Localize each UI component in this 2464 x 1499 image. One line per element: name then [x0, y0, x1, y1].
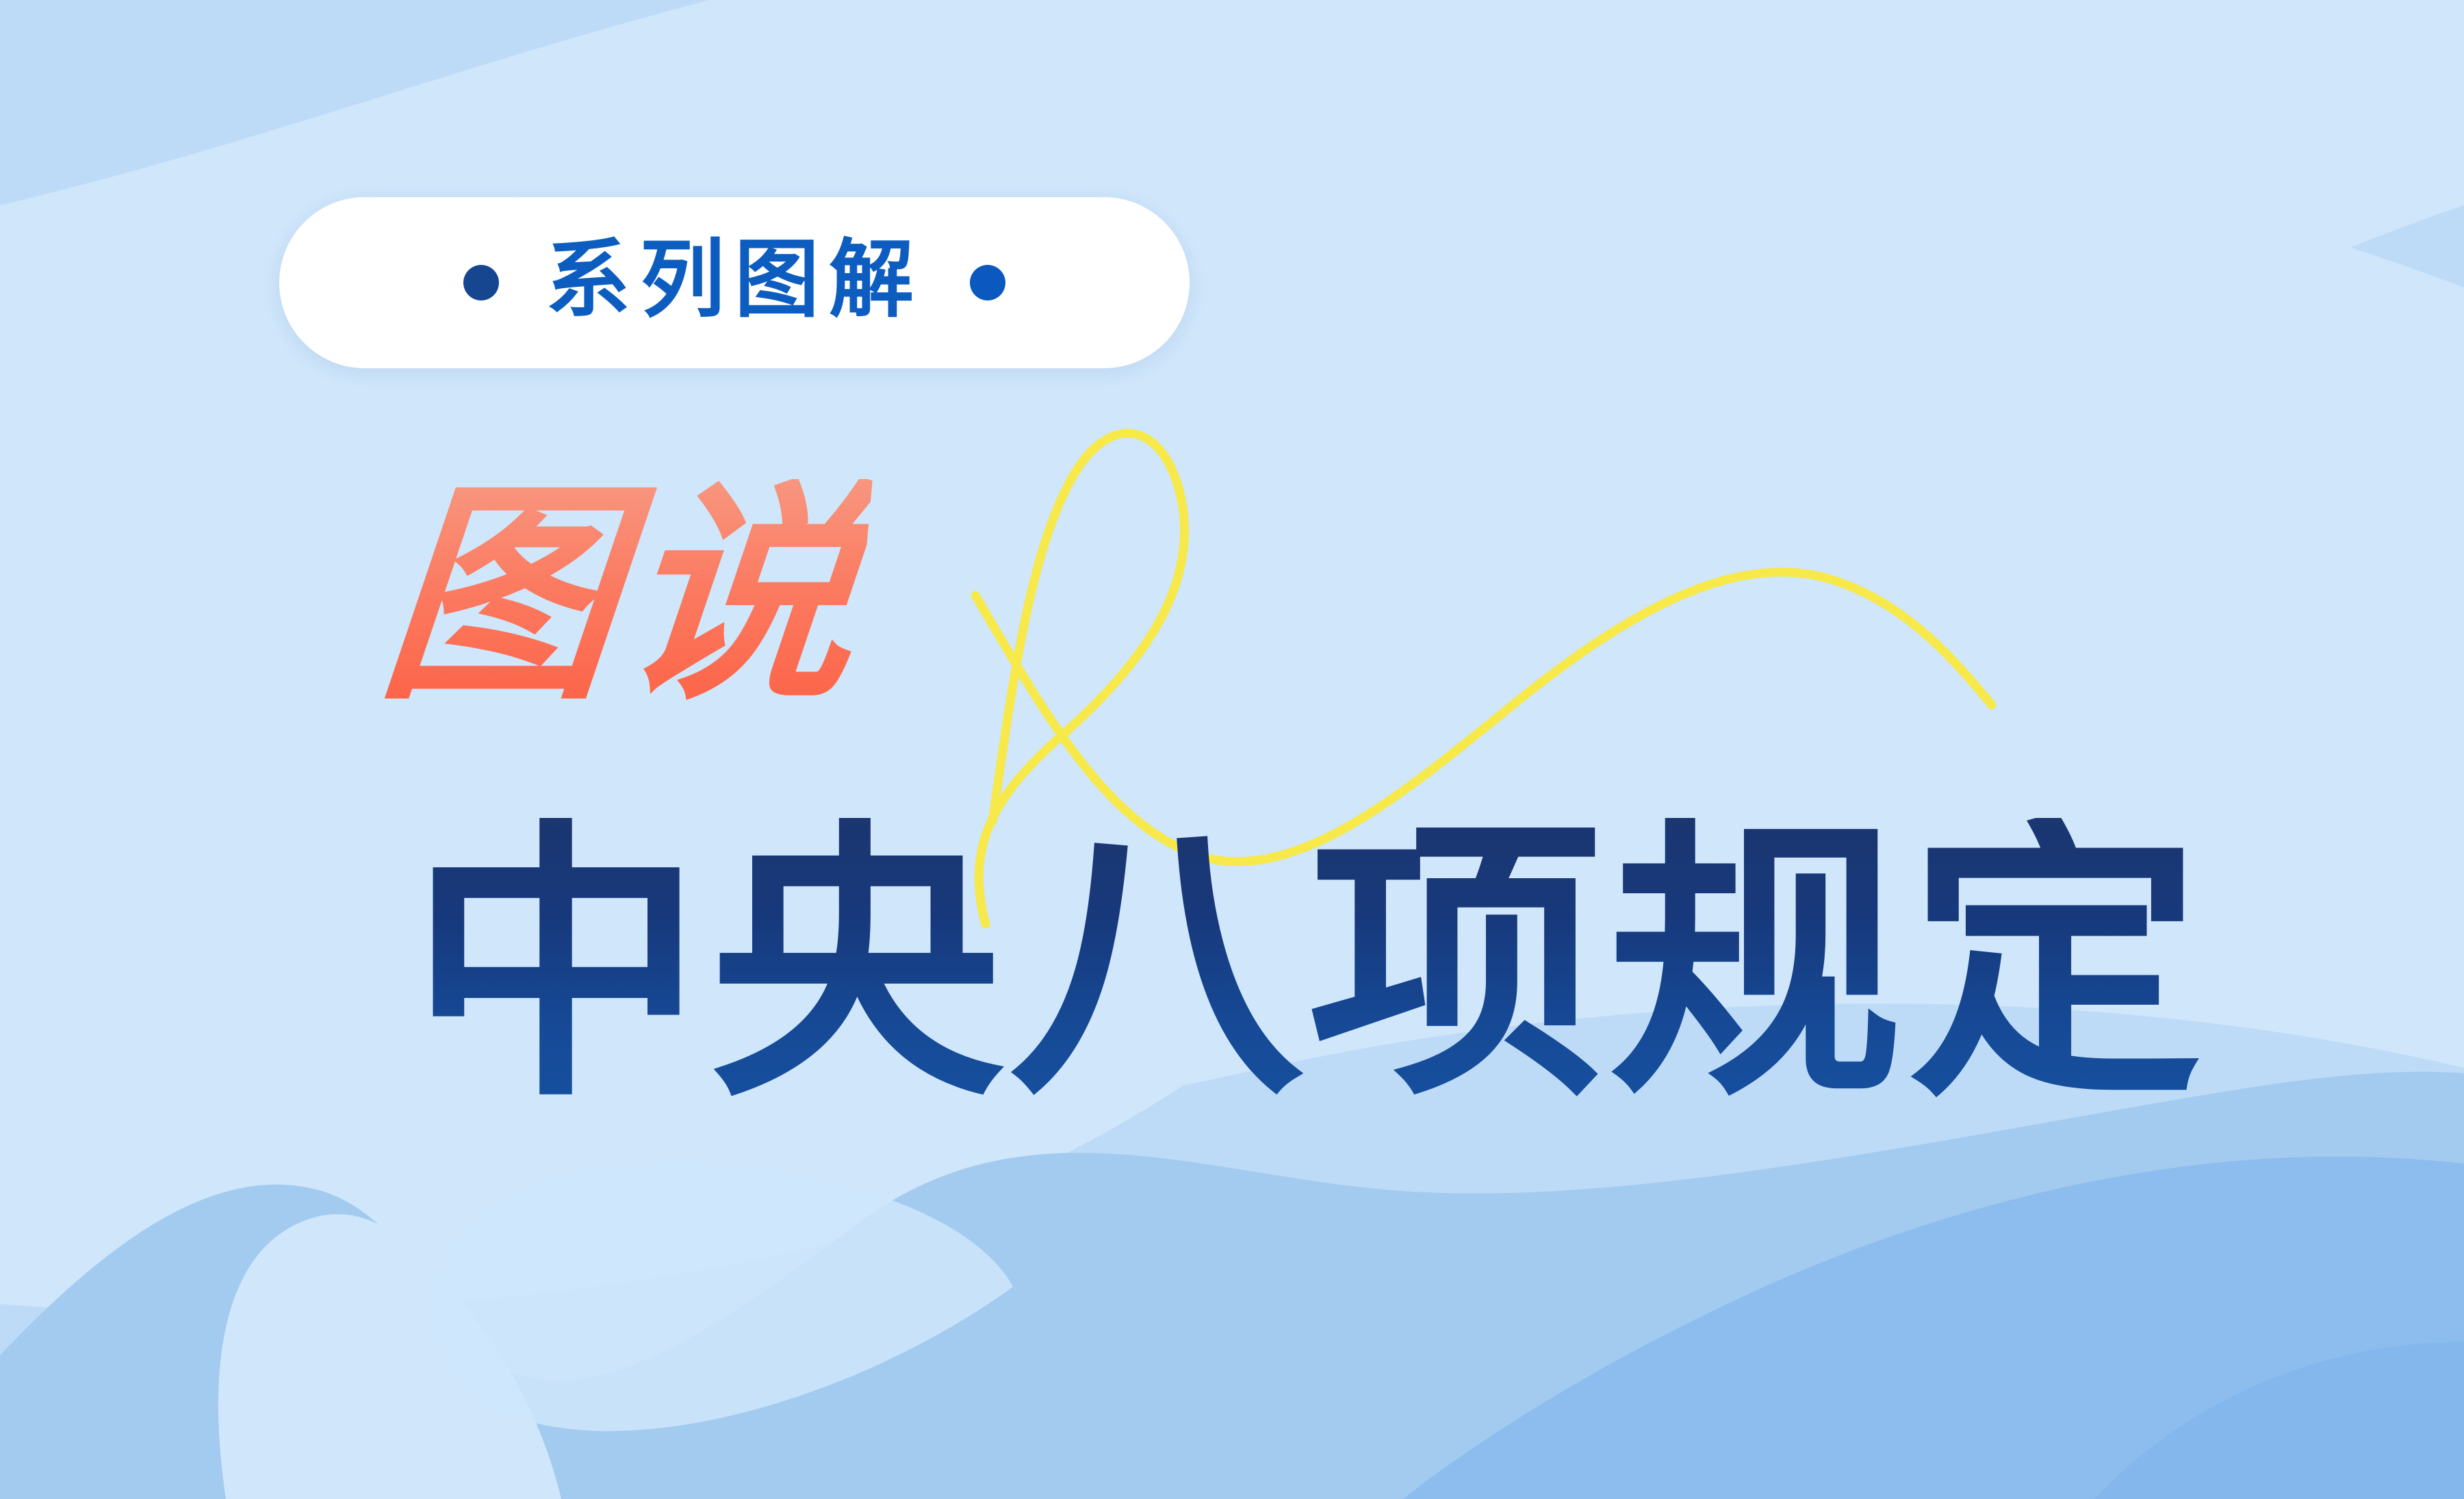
page-title: 中央八项规定 — [409, 818, 2086, 1146]
page-title-text: 中央八项规定 — [409, 818, 2208, 1112]
poster-canvas: 系列图解 图说 中央八项规定 — [0, 0, 2464, 1499]
series-badge-label: 系列图解 — [546, 238, 923, 322]
series-badge[interactable]: 系列图解 — [279, 197, 1190, 368]
bullet-dot-icon-right — [970, 265, 1005, 300]
calligraphy-subtitle: 图说 — [383, 479, 999, 767]
calligraphy-subtitle-text: 图说 — [373, 479, 873, 712]
bullet-dot-icon-left — [463, 265, 499, 300]
